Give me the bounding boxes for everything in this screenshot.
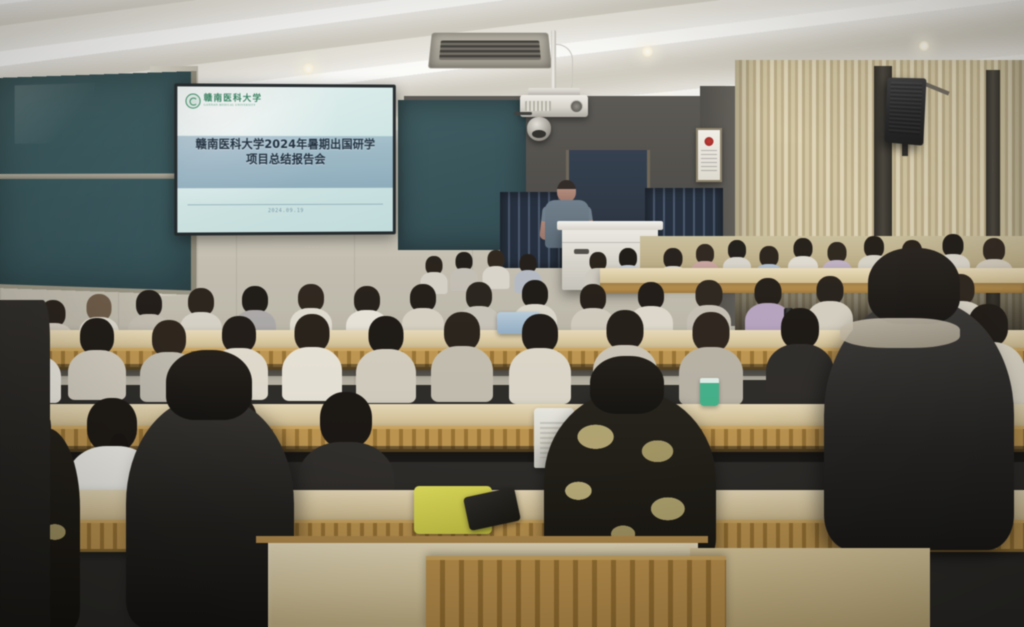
projector-vent-icon	[525, 101, 551, 111]
slide-logo-wordmark: 赣南医科大学	[204, 94, 263, 103]
poster-emblem-icon	[705, 137, 714, 146]
projection-screen-frame: 赣南医科大学 GANNAN MEDICAL UNIVERSITY 赣南医科大学2…	[174, 83, 395, 235]
projector-lens-icon	[570, 100, 583, 113]
lecture-hall-scene: 赣南医科大学 GANNAN MEDICAL UNIVERSITY 赣南医科大学2…	[0, 0, 1024, 627]
podium-top	[557, 221, 663, 230]
slide-logo: 赣南医科大学 GANNAN MEDICAL UNIVERSITY	[185, 93, 262, 108]
projection-screen: 赣南医科大学 GANNAN MEDICAL UNIVERSITY 赣南医科大学2…	[177, 86, 392, 232]
camera-arm	[514, 112, 532, 115]
bench-slats-foreground	[426, 556, 726, 627]
presenter-head	[557, 180, 576, 202]
poster-text-lines	[701, 150, 717, 174]
audience-edge-shadow	[0, 300, 50, 627]
downlight-icon	[641, 45, 654, 58]
slide-title: 赣南医科大学2024年暑期出国研学 项目总结报告会	[177, 137, 392, 167]
slide-date: 2024.09.19	[177, 208, 392, 215]
desk-surface-foreground	[690, 548, 930, 627]
audience-member-foreground-right	[824, 300, 1014, 550]
audience-head	[868, 248, 960, 324]
audience-head	[590, 356, 664, 414]
slide-title-line1: 赣南医科大学2024年暑期出国研学	[177, 137, 392, 152]
slide-logo-subtitle: GANNAN MEDICAL UNIVERSITY	[204, 105, 263, 108]
university-seal-icon	[185, 93, 200, 108]
knit-collar	[840, 318, 960, 348]
audience-member	[310, 392, 382, 506]
downlight-icon	[918, 40, 930, 52]
framed-wall-poster	[696, 128, 722, 182]
wall-loudspeaker	[884, 78, 926, 146]
downlight-icon	[302, 62, 315, 75]
desk-edge	[256, 536, 708, 543]
slide-title-line2: 项目总结报告会	[177, 152, 392, 167]
dome-security-camera	[527, 117, 551, 141]
audience-head	[166, 350, 252, 420]
ceiling-air-vent	[428, 33, 552, 69]
chalkboard-glare	[14, 83, 94, 144]
chalkboard-rail	[0, 173, 191, 179]
